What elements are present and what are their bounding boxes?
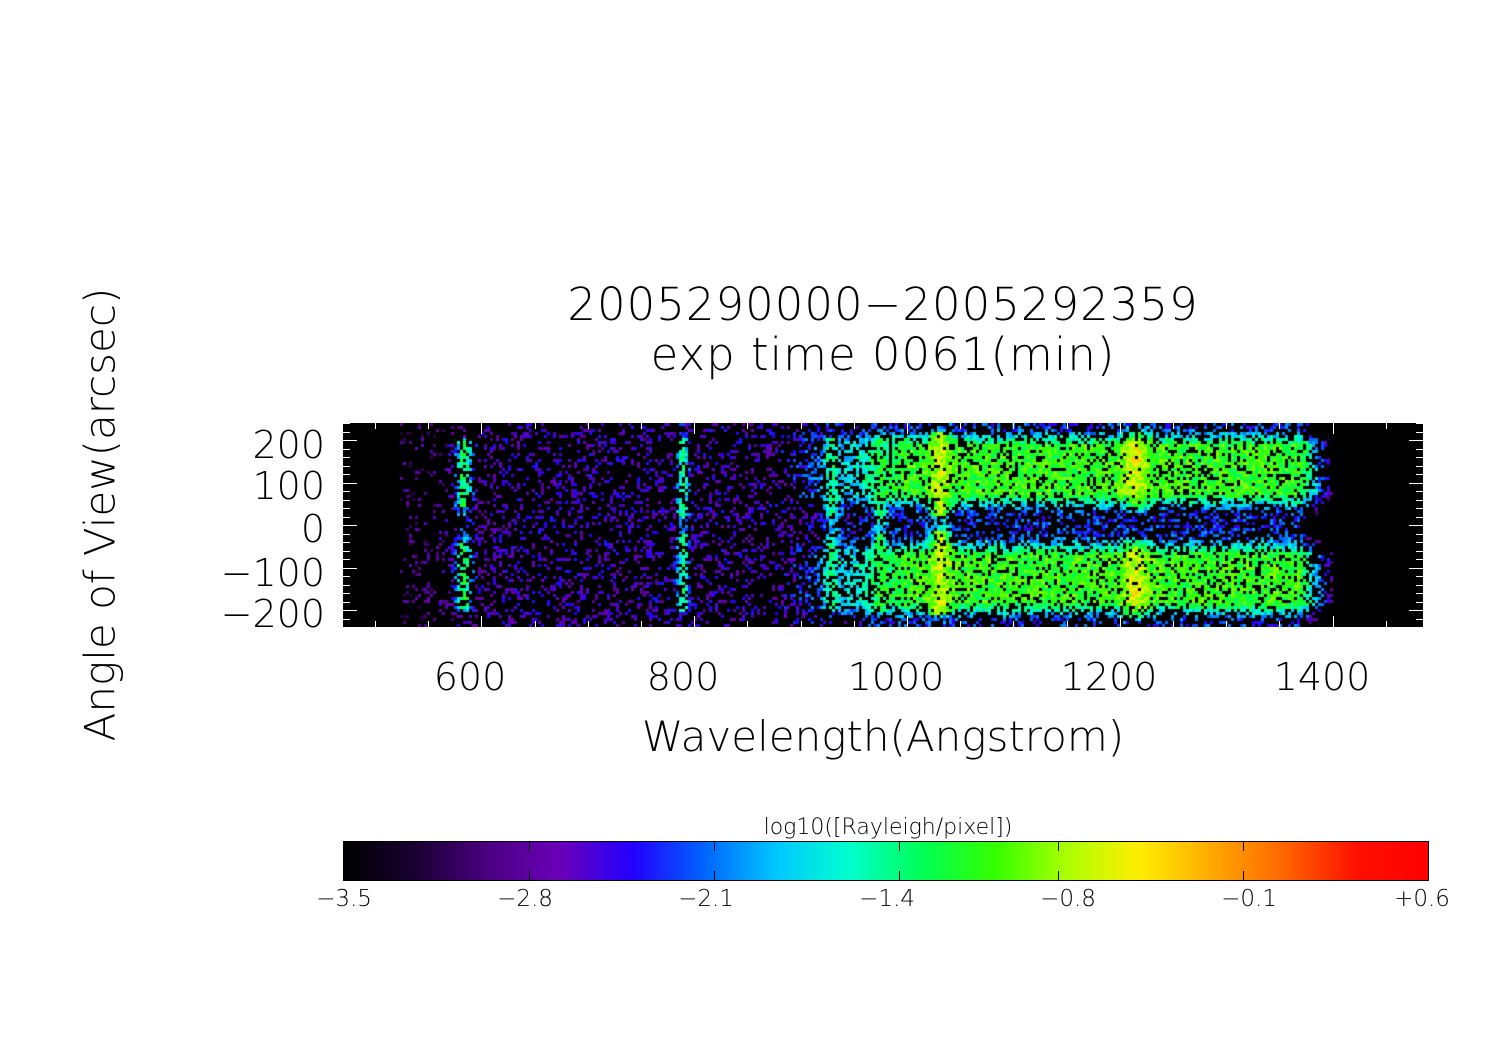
axis-tick-mark <box>1409 440 1423 441</box>
colorbar-tick-label: −0.1 <box>1221 886 1277 912</box>
y-tick-label: −100 <box>221 551 325 595</box>
y-tick-label: 100 <box>252 464 325 508</box>
axis-tick-mark <box>854 423 855 429</box>
axis-tick-mark <box>1416 559 1423 560</box>
axis-tick-mark <box>1416 449 1423 450</box>
axis-tick-mark <box>535 621 536 627</box>
spectrogram-image <box>343 423 1423 627</box>
axis-tick-mark <box>1416 517 1423 518</box>
x-tick-label: 1000 <box>848 655 945 699</box>
axis-tick-mark <box>1416 508 1423 509</box>
title-date-range: 2005290000−2005292359 <box>343 280 1423 330</box>
axis-tick-mark <box>1409 568 1423 569</box>
axis-tick-mark <box>1416 491 1423 492</box>
axis-tick-mark <box>343 610 357 611</box>
axis-tick-mark <box>343 534 350 535</box>
axis-tick-mark <box>1416 474 1423 475</box>
axis-tick-mark <box>1173 621 1174 627</box>
axis-tick-mark <box>343 525 357 526</box>
colorbar-tick-mark <box>529 842 530 851</box>
axis-tick-mark <box>1226 423 1227 429</box>
axis-tick-mark <box>343 517 350 518</box>
y-axis-tick-labels: 200 100 0 −100 −200 <box>150 0 325 1058</box>
colorbar-tick-mark <box>1058 842 1059 851</box>
axis-tick-mark <box>1416 542 1423 543</box>
axis-tick-mark <box>1416 576 1423 577</box>
axis-tick-mark <box>1067 621 1068 627</box>
axis-tick-mark <box>428 621 429 627</box>
colorbar-tick-label: −2.8 <box>497 886 553 912</box>
axis-tick-mark <box>343 466 350 467</box>
axis-tick-mark <box>1173 423 1174 429</box>
axis-tick-mark <box>343 423 350 424</box>
spectrogram-plot[interactable] <box>343 423 1423 627</box>
axis-tick-mark <box>343 568 357 569</box>
axis-tick-mark <box>854 621 855 627</box>
x-tick-label: 600 <box>434 655 507 699</box>
colorbar-tick-mark <box>344 871 345 880</box>
axis-tick-mark <box>1013 423 1014 429</box>
axis-tick-mark <box>375 621 376 627</box>
colorbar-tick-mark <box>1243 871 1244 880</box>
axis-tick-mark <box>343 457 350 458</box>
axis-tick-mark <box>343 449 350 450</box>
axis-tick-mark <box>343 551 350 552</box>
x-tick-label: 1400 <box>1274 655 1371 699</box>
y-tick-label: −200 <box>221 592 325 636</box>
axis-tick-mark <box>1416 534 1423 535</box>
y-tick-label: 0 <box>301 507 325 551</box>
axis-tick-mark <box>343 432 350 433</box>
axis-tick-mark <box>343 508 350 509</box>
axis-tick-mark <box>641 621 642 627</box>
axis-tick-mark <box>1416 619 1423 620</box>
axis-tick-mark <box>960 423 961 429</box>
axis-tick-mark <box>694 616 695 627</box>
axis-tick-mark <box>1416 432 1423 433</box>
axis-tick-mark <box>1416 466 1423 467</box>
axis-tick-mark <box>343 602 350 603</box>
colorbar-tick-mark <box>344 842 345 851</box>
axis-tick-mark <box>1013 621 1014 627</box>
axis-tick-mark <box>481 616 482 627</box>
axis-tick-mark <box>1386 423 1387 429</box>
axis-tick-mark <box>1067 423 1068 429</box>
axis-tick-mark <box>907 423 908 434</box>
axis-tick-mark <box>1409 483 1423 484</box>
axis-tick-mark <box>343 474 350 475</box>
colorbar-tick-label: −3.5 <box>316 886 372 912</box>
colorbar-title: log10([Rayleigh/pixel]) <box>343 815 1433 840</box>
axis-tick-mark <box>428 423 429 429</box>
axis-tick-mark <box>1386 621 1387 627</box>
colorbar-tick-mark <box>899 842 900 851</box>
colorbar-tick-label: −1.4 <box>859 886 915 912</box>
colorbar[interactable] <box>343 841 1429 881</box>
axis-tick-mark <box>343 585 350 586</box>
chart-title: 2005290000−2005292359 exp time 0061(min) <box>343 280 1423 381</box>
colorbar-tick-mark <box>1428 871 1429 880</box>
axis-tick-mark <box>801 423 802 429</box>
colorbar-tick-label: +0.6 <box>1394 886 1450 912</box>
axis-tick-mark <box>1416 500 1423 501</box>
x-tick-label: 1200 <box>1061 655 1158 699</box>
axis-tick-mark <box>1226 621 1227 627</box>
axis-tick-mark <box>343 619 350 620</box>
colorbar-tick-label: −0.8 <box>1040 886 1096 912</box>
axis-tick-mark <box>1120 423 1121 434</box>
colorbar-tick-mark <box>714 871 715 880</box>
axis-tick-mark <box>1409 610 1423 611</box>
axis-tick-mark <box>1416 457 1423 458</box>
axis-tick-mark <box>1333 616 1334 627</box>
axis-tick-mark <box>343 576 350 577</box>
colorbar-tick-mark <box>1058 871 1059 880</box>
axis-tick-mark <box>1120 616 1121 627</box>
axis-tick-mark <box>1416 593 1423 594</box>
axis-tick-mark <box>1333 423 1334 434</box>
axis-tick-mark <box>343 500 350 501</box>
axis-tick-mark <box>1409 525 1423 526</box>
axis-tick-mark <box>343 542 350 543</box>
y-axis-label: Angle of View(arcsec) <box>76 235 125 795</box>
colorbar-tick-mark <box>529 871 530 880</box>
axis-tick-mark <box>1416 551 1423 552</box>
axis-tick-mark <box>1279 621 1280 627</box>
axis-tick-mark <box>801 621 802 627</box>
x-tick-label: 800 <box>647 655 720 699</box>
axis-tick-mark <box>343 483 357 484</box>
x-axis-label: Wavelength(Angstrom) <box>343 712 1423 761</box>
axis-tick-mark <box>535 423 536 429</box>
colorbar-tick-mark <box>1428 842 1429 851</box>
colorbar-tick-mark <box>714 842 715 851</box>
axis-tick-mark <box>588 423 589 429</box>
axis-tick-mark <box>588 621 589 627</box>
axis-tick-mark <box>747 423 748 429</box>
axis-tick-mark <box>641 423 642 429</box>
axis-tick-mark <box>343 440 357 441</box>
axis-tick-mark <box>481 423 482 434</box>
axis-tick-mark <box>747 621 748 627</box>
axis-tick-mark <box>343 559 350 560</box>
axis-tick-mark <box>1416 423 1423 424</box>
axis-tick-mark <box>1279 423 1280 429</box>
axis-tick-mark <box>343 593 350 594</box>
colorbar-tick-label: −2.1 <box>678 886 734 912</box>
title-exposure-time: exp time 0061(min) <box>343 330 1423 380</box>
y-tick-label: 200 <box>252 423 325 467</box>
colorbar-gradient <box>344 842 1428 880</box>
colorbar-tick-mark <box>1243 842 1244 851</box>
axis-tick-mark <box>1416 602 1423 603</box>
axis-tick-mark <box>343 491 350 492</box>
axis-tick-mark <box>694 423 695 434</box>
axis-tick-mark <box>960 621 961 627</box>
colorbar-tick-mark <box>899 871 900 880</box>
axis-tick-mark <box>907 616 908 627</box>
axis-tick-mark <box>1416 585 1423 586</box>
axis-tick-mark <box>375 423 376 429</box>
